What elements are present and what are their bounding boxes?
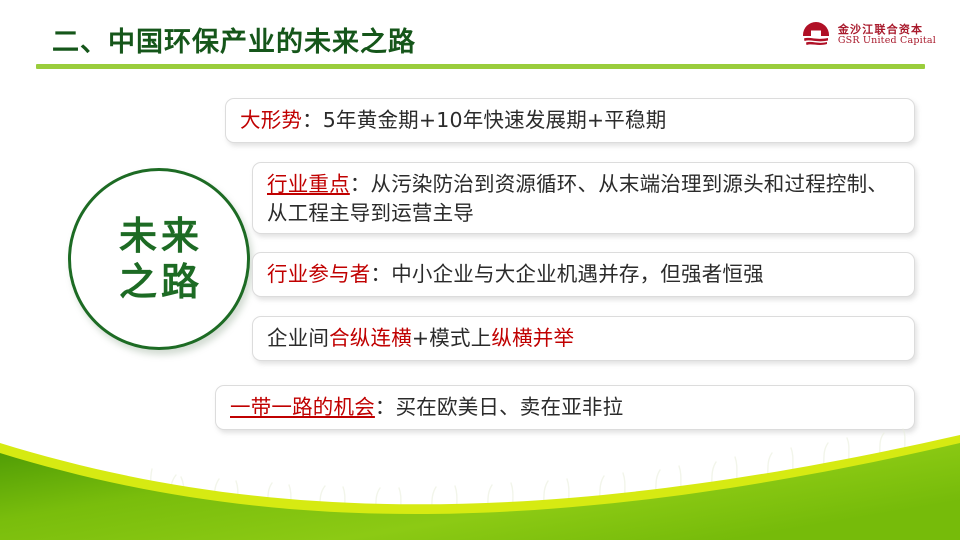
point-enterprise-alliances[interactable]: 企业间合纵连横+模式上纵横并举 [252,316,915,361]
point-big-trend-text: 大形势：5年黄金期+10年快速发展期+平稳期 [226,106,914,135]
wave-circle-icon [801,22,831,49]
brand-logo: 金沙江联合资本 GSR United Capital [801,22,936,49]
text-segment-1: ：中小企业与大企业机遇并存，但强者恒强 [371,262,764,286]
point-industry-focus[interactable]: 行业重点：从污染防治到资源循环、从末端治理到源头和过程控制、从工程主导到运营主导 [252,162,915,234]
text-segment-0: 大形势 [240,108,302,132]
text-segment-1: 合纵连横 [329,326,412,350]
point-industry-focus-text: 行业重点：从污染防治到资源循环、从末端治理到源头和过程控制、从工程主导到运营主导 [253,168,914,228]
text-segment-3: 纵横并举 [491,326,574,350]
page-title: 二、中国环保产业的未来之路 [52,20,416,59]
badge-line-1: 未来 [115,213,203,259]
point-industry-players-text: 行业参与者：中小企业与大企业机遇并存，但强者恒强 [253,260,914,289]
point-belt-and-road[interactable]: 一带一路的机会：买在欧美日、卖在亚非拉 [215,385,915,430]
slide-canvas: 二、中国环保产业的未来之路 金沙江联合资本 GSR United Capital… [0,0,960,540]
text-segment-0: 一带一路的机会 [230,395,375,419]
point-belt-and-road-text: 一带一路的机会：买在欧美日、卖在亚非拉 [216,393,914,422]
text-segment-0: 行业参与者 [267,262,371,286]
logo-text-block: 金沙江联合资本 GSR United Capital [838,24,936,47]
logo-name-en: GSR United Capital [838,36,936,47]
future-road-badge: 未来 之路 [68,168,250,350]
point-enterprise-alliances-text: 企业间合纵连横+模式上纵横并举 [253,324,914,353]
text-segment-0: 行业重点 [267,172,350,196]
point-industry-players[interactable]: 行业参与者：中小企业与大企业机遇并存，但强者恒强 [252,252,915,297]
point-big-trend[interactable]: 大形势：5年黄金期+10年快速发展期+平稳期 [225,98,915,143]
text-segment-1: ：从污染防治到资源循环、从末端治理到源头和过程控制、从工程主导到运营主导 [267,172,888,225]
badge-line-2: 之路 [115,259,203,305]
title-divider [36,64,925,69]
text-segment-2: +模式上 [412,326,491,350]
text-segment-1: ：5年黄金期+10年快速发展期+平稳期 [302,108,666,132]
text-segment-0: 企业间 [267,326,329,350]
text-segment-1: ：买在欧美日、卖在亚非拉 [375,395,623,419]
